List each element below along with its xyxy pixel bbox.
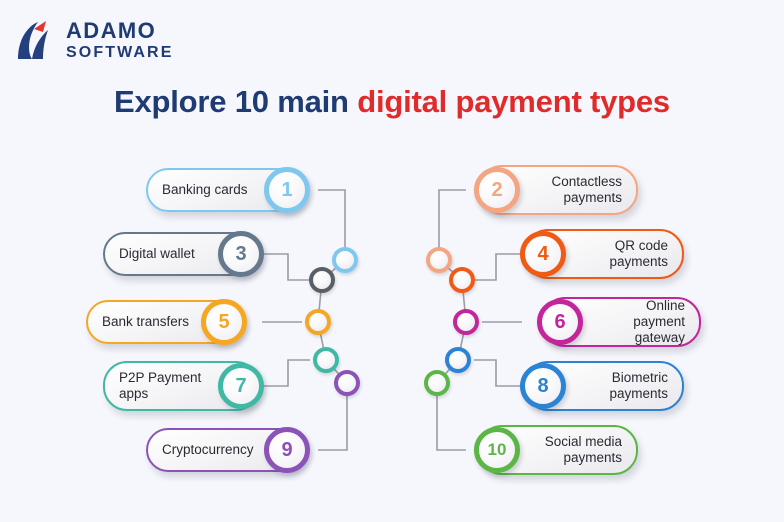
item-pill-7[interactable]: P2P Payment apps 7 <box>103 361 260 411</box>
item-number-8: 8 <box>520 363 566 409</box>
item-pill-4[interactable]: QR code payments 4 <box>524 229 684 279</box>
chain-node-1 <box>332 247 358 273</box>
chain-node-4 <box>449 267 475 293</box>
item-number-1: 1 <box>264 167 310 213</box>
item-number-3: 3 <box>218 231 264 277</box>
brand-name-line2: SOFTWARE <box>66 45 173 61</box>
chain-node-8 <box>445 347 471 373</box>
adamo-arrow-logo-icon <box>12 17 58 63</box>
infographic-board: Banking cards 1 Digital wallet 3 Bank tr… <box>0 148 784 498</box>
title-part-2: digital payment types <box>357 84 670 119</box>
item-pill-2[interactable]: Contactless payments 2 <box>478 165 638 215</box>
chain-node-2 <box>426 247 452 273</box>
chain-node-7 <box>313 347 339 373</box>
item-pill-3[interactable]: Digital wallet 3 <box>103 232 260 276</box>
item-pill-1[interactable]: Banking cards 1 <box>146 168 306 212</box>
chain-node-6 <box>453 309 479 335</box>
item-number-9: 9 <box>264 427 310 473</box>
item-pill-5[interactable]: Bank transfers 5 <box>86 300 243 344</box>
item-number-7: 7 <box>218 363 264 409</box>
item-number-10: 10 <box>474 427 520 473</box>
item-pill-9[interactable]: Cryptocurrency 9 <box>146 428 306 472</box>
title-part-1: Explore 10 main <box>114 84 357 119</box>
item-number-5: 5 <box>201 299 247 345</box>
page-title: Explore 10 main digital payment types <box>0 84 784 120</box>
chain-node-10 <box>424 370 450 396</box>
brand-logo: ADAMO SOFTWARE <box>12 14 202 66</box>
brand-name-line1: ADAMO <box>66 20 173 42</box>
item-number-2: 2 <box>474 167 520 213</box>
item-pill-6[interactable]: Online payment gateway 6 <box>541 297 701 347</box>
item-pill-10[interactable]: Social media payments 10 <box>478 425 638 475</box>
item-number-6: 6 <box>537 299 583 345</box>
chain-node-5 <box>305 309 331 335</box>
item-number-4: 4 <box>520 231 566 277</box>
chain-node-3 <box>309 267 335 293</box>
item-pill-8[interactable]: Biometric payments 8 <box>524 361 684 411</box>
chain-node-9 <box>334 370 360 396</box>
